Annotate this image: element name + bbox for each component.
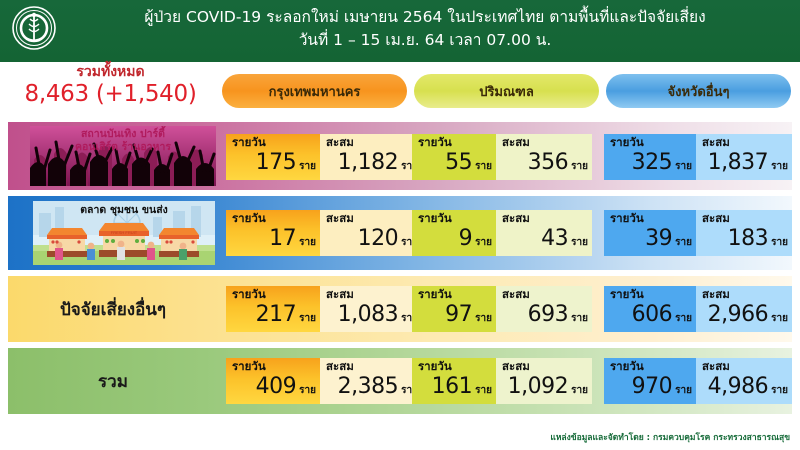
value-other-daily: 970ราย: [632, 375, 692, 403]
caption-cumulative: สะสม: [326, 288, 354, 301]
caption-daily: รายวัน: [610, 212, 644, 225]
value-perimeter-daily: 161ราย: [432, 375, 492, 403]
row-label-market: ตลาด ชุมชน ขนส่ง: [33, 204, 215, 217]
value-bkk-daily: 17ราย: [269, 227, 316, 255]
caption-cumulative: สะสม: [502, 136, 530, 149]
value-other-cumulative: 183ราย: [728, 227, 788, 255]
value-bkk-daily: 175ราย: [256, 151, 316, 179]
caption-daily: รายวัน: [418, 212, 452, 225]
value-bkk-cumulative: 1,083ราย: [338, 303, 418, 331]
svg-text:FRESH FRUIT: FRESH FRUIT: [111, 230, 138, 235]
cell-perimeter-daily: รายวัน 9ราย: [412, 210, 496, 256]
cell-bkk-cumulative: สะสม 1,182ราย: [320, 134, 422, 180]
table-row: สถานบันเทิง ปาร์ตี้ คอนเสิร์ต ร้านอาหาร …: [8, 122, 792, 190]
caption-cumulative: สะสม: [326, 212, 354, 225]
caption-cumulative: สะสม: [702, 360, 730, 373]
caption-daily: รายวัน: [610, 360, 644, 373]
row-label-total: รวม: [8, 348, 218, 414]
page-subtitle: วันที่ 1 – 15 เม.ย. 64 เวลา 07.00 น.: [70, 29, 780, 51]
cell-bkk-daily: รายวัน 217ราย: [226, 286, 320, 332]
group-header-other-provinces[interactable]: จังหวัดอื่นๆ: [606, 74, 791, 108]
row-label-other-risk: ปัจจัยเสี่ยงอื่นๆ: [8, 276, 218, 342]
cell-bkk-cumulative: สะสม 2,385ราย: [320, 358, 422, 404]
caption-daily: รายวัน: [232, 136, 266, 149]
group-header-perimeter[interactable]: ปริมณฑล: [414, 74, 599, 108]
cell-other-daily: รายวัน 39ราย: [604, 210, 696, 256]
cell-perimeter-cumulative: สะสม 356ราย: [496, 134, 592, 180]
ministry-of-public-health-logo: [10, 4, 58, 52]
cell-perimeter-cumulative: สะสม 1,092ราย: [496, 358, 592, 404]
caption-daily: รายวัน: [610, 288, 644, 301]
caption-daily: รายวัน: [610, 136, 644, 149]
value-perimeter-daily: 9ราย: [459, 227, 492, 255]
cell-other-cumulative: สะสม 1,837ราย: [696, 134, 792, 180]
value-other-daily: 39ราย: [645, 227, 692, 255]
cell-bkk-cumulative: สะสม 1,083ราย: [320, 286, 422, 332]
value-bkk-cumulative: 2,385ราย: [338, 375, 418, 403]
cell-bkk-cumulative: สะสม 120ราย: [320, 210, 422, 256]
table-row: FRESH FRUIT ตลาด ชุมชน ขนส่ง รายวัน 17รา…: [8, 196, 792, 270]
cell-other-daily: รายวัน 970ราย: [604, 358, 696, 404]
cell-perimeter-daily: รายวัน 97ราย: [412, 286, 496, 332]
caption-daily: รายวัน: [232, 288, 266, 301]
group-header-bkk[interactable]: กรุงเทพมหานคร: [222, 74, 407, 108]
caption-cumulative: สะสม: [502, 288, 530, 301]
caption-daily: รายวัน: [418, 136, 452, 149]
value-other-daily: 325ราย: [632, 151, 692, 179]
value-other-daily: 606ราย: [632, 303, 692, 331]
table-row: รวม รายวัน 409ราย สะสม 2,385ราย รายวัน 1…: [8, 348, 792, 414]
caption-cumulative: สะสม: [326, 136, 354, 149]
value-perimeter-daily: 97ราย: [445, 303, 492, 331]
caption-daily: รายวัน: [232, 360, 266, 373]
value-perimeter-cumulative: 43ราย: [541, 227, 588, 255]
market-community-transport-image: FRESH FRUIT ตลาด ชุมชน ขนส่ง: [33, 201, 215, 265]
caption-daily: รายวัน: [232, 212, 266, 225]
caption-cumulative: สะสม: [702, 136, 730, 149]
crowd-party-image: สถานบันเทิง ปาร์ตี้ คอนเสิร์ต ร้านอาหาร: [30, 126, 216, 186]
row-label-entertainment: สถานบันเทิง ปาร์ตี้ คอนเสิร์ต ร้านอาหาร: [30, 128, 216, 154]
caption-cumulative: สะสม: [502, 360, 530, 373]
value-perimeter-cumulative: 693ราย: [528, 303, 588, 331]
caption-cumulative: สะสม: [702, 212, 730, 225]
header-title-block: ผู้ป่วย COVID-19 ระลอกใหม่ เมษายน 2564 ใ…: [70, 6, 780, 51]
caption-cumulative: สะสม: [702, 288, 730, 301]
value-other-cumulative: 1,837ราย: [708, 151, 788, 179]
value-bkk-cumulative: 120ราย: [358, 227, 418, 255]
caption-daily: รายวัน: [418, 360, 452, 373]
caption-daily: รายวัน: [418, 288, 452, 301]
cell-other-daily: รายวัน 325ราย: [604, 134, 696, 180]
cell-other-cumulative: สะสม 4,986ราย: [696, 358, 792, 404]
page-header: ผู้ป่วย COVID-19 ระลอกใหม่ เมษายน 2564 ใ…: [0, 0, 800, 62]
grand-total-value: 8,463 (+1,540): [8, 81, 213, 108]
value-perimeter-cumulative: 356ราย: [528, 151, 588, 179]
value-perimeter-cumulative: 1,092ราย: [508, 375, 588, 403]
caption-cumulative: สะสม: [326, 360, 354, 373]
grand-total-label: รวมทั้งหมด: [8, 64, 213, 81]
value-bkk-daily: 409ราย: [256, 375, 316, 403]
cell-other-cumulative: สะสม 183ราย: [696, 210, 792, 256]
table-row: ปัจจัยเสี่ยงอื่นๆ รายวัน 217ราย สะสม 1,0…: [8, 276, 792, 342]
cell-perimeter-cumulative: สะสม 43ราย: [496, 210, 592, 256]
value-perimeter-daily: 55ราย: [445, 151, 492, 179]
caption-cumulative: สะสม: [502, 212, 530, 225]
cell-bkk-daily: รายวัน 409ราย: [226, 358, 320, 404]
value-bkk-cumulative: 1,182ราย: [338, 151, 418, 179]
cell-other-cumulative: สะสม 2,966ราย: [696, 286, 792, 332]
source-credit: แหล่งข้อมูลและจัดทำโดย : กรมควบคุมโรค กร…: [550, 430, 790, 444]
cell-perimeter-daily: รายวัน 161ราย: [412, 358, 496, 404]
cell-other-daily: รายวัน 606ราย: [604, 286, 696, 332]
value-bkk-daily: 217ราย: [256, 303, 316, 331]
cell-bkk-daily: รายวัน 175ราย: [226, 134, 320, 180]
value-other-cumulative: 2,966ราย: [708, 303, 788, 331]
cell-perimeter-daily: รายวัน 55ราย: [412, 134, 496, 180]
cell-bkk-daily: รายวัน 17ราย: [226, 210, 320, 256]
grand-total-block: รวมทั้งหมด 8,463 (+1,540): [8, 64, 213, 108]
page-title: ผู้ป่วย COVID-19 ระลอกใหม่ เมษายน 2564 ใ…: [70, 6, 780, 29]
value-other-cumulative: 4,986ราย: [708, 375, 788, 403]
cell-perimeter-cumulative: สะสม 693ราย: [496, 286, 592, 332]
